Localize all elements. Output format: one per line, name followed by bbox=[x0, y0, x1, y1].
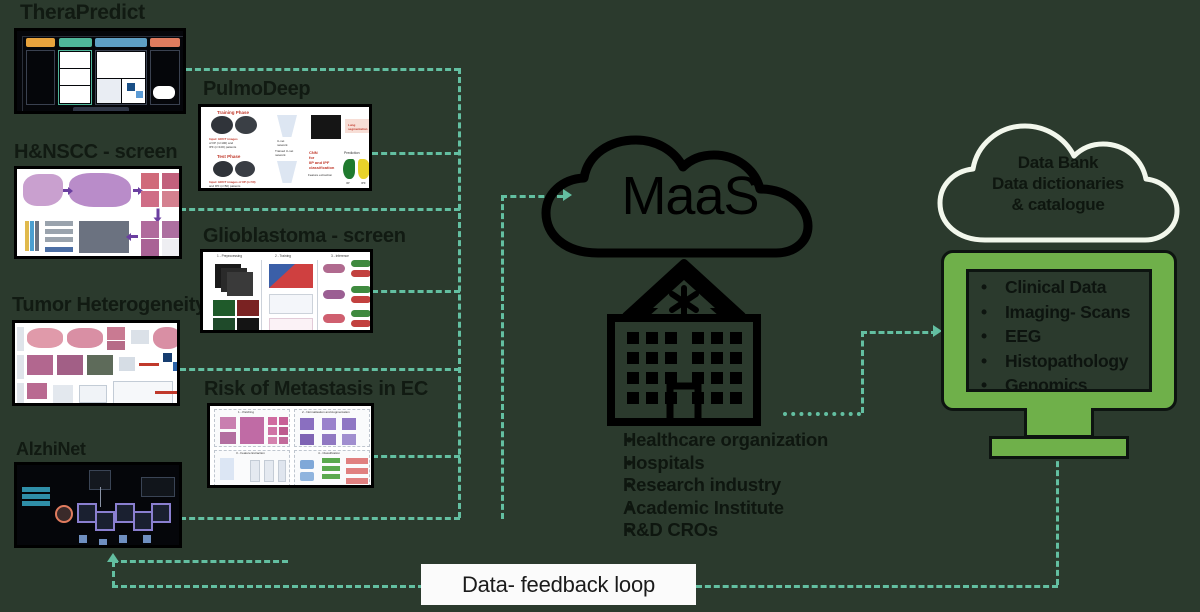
fig-net-layer bbox=[250, 460, 260, 482]
fig-patch bbox=[279, 437, 288, 444]
fig-arrow-down bbox=[157, 209, 160, 219]
fig-patch bbox=[279, 427, 288, 435]
fig-pill-green bbox=[351, 310, 370, 317]
fig-unet-shape-2 bbox=[277, 161, 297, 183]
model-title-hnscc: H&NSCC - screen bbox=[14, 142, 177, 162]
fig-col-1 bbox=[26, 50, 55, 105]
fig-tab-1 bbox=[26, 38, 55, 47]
list-item: Genomics bbox=[975, 373, 1165, 398]
fig-pill-purple bbox=[323, 264, 345, 273]
fig-legend-bar bbox=[22, 487, 50, 492]
fig-hex-node bbox=[115, 503, 135, 523]
feedback-loop-box: Data- feedback loop bbox=[421, 564, 696, 605]
model-title-glioblastoma: Glioblastoma - screen bbox=[203, 226, 406, 246]
fig-label-trained-unet: Trained U-netnetwork bbox=[275, 149, 293, 157]
fig-row-label bbox=[17, 327, 24, 351]
model-panel-pulmodeep[interactable]: Training Phase Input: HRCT images of IIP… bbox=[198, 104, 372, 191]
fig-label-unet: U-netnetwork bbox=[277, 139, 288, 147]
fig-hex-node bbox=[77, 503, 97, 523]
fig-mri-color bbox=[213, 300, 235, 316]
fig-patch bbox=[141, 173, 159, 189]
fig-pipeline bbox=[269, 318, 313, 330]
model-title-therapredict: TheraPredict bbox=[20, 2, 145, 23]
fig-label-step1: 1 - Preprocessing bbox=[217, 254, 242, 258]
model-panel-metastasis[interactable]: 1 - Patching 2 - Normalisation and Augme… bbox=[207, 403, 374, 488]
fig-patch bbox=[268, 417, 277, 425]
fig-label-prediction: Prediction bbox=[344, 151, 360, 155]
fig-box bbox=[131, 330, 149, 344]
model-panel-hnscc[interactable] bbox=[14, 166, 182, 259]
fig-heat bbox=[173, 362, 177, 371]
fig-patch bbox=[268, 437, 277, 444]
fig-divider bbox=[261, 260, 262, 330]
connector-therapredict bbox=[186, 68, 460, 71]
fig-bar bbox=[139, 363, 159, 366]
fig-slide bbox=[240, 417, 264, 444]
fig-ct bbox=[235, 161, 255, 177]
fig-thumb bbox=[97, 79, 121, 103]
fig-pill-green bbox=[351, 286, 370, 293]
fig-label-input-train3: IPF (n=100) patients bbox=[209, 145, 236, 149]
fig-cls-red bbox=[346, 468, 368, 474]
fig-caption-strip bbox=[73, 107, 129, 111]
fig-hex-node bbox=[95, 511, 115, 531]
fig-label-step2: 2 - Normalisation and Augmentation bbox=[302, 410, 350, 414]
bank-line-1: Data Bank bbox=[948, 152, 1168, 173]
fig-layer bbox=[45, 229, 73, 234]
list-item: Imaging- Scans bbox=[975, 300, 1165, 325]
data-bank-cloud-text: Data Bank Data dictionaries & catalogue bbox=[948, 152, 1168, 215]
connector-trunk-vertical bbox=[458, 68, 461, 518]
fig-thumb bbox=[60, 86, 90, 103]
hospital-icon bbox=[597, 258, 772, 428]
fig-hex-node bbox=[151, 503, 171, 523]
fig-layer bbox=[45, 221, 73, 226]
fig-label-cnn: CNNforIIP and IPFclassification bbox=[309, 150, 334, 170]
feedback-return-to-models bbox=[112, 560, 288, 563]
fig-tissue bbox=[153, 327, 177, 349]
fig-patch bbox=[268, 427, 277, 435]
fig-tissue bbox=[27, 383, 47, 399]
list-item: Histopathology bbox=[975, 349, 1165, 374]
connector-trunk-to-maas-riser bbox=[501, 195, 504, 519]
fig-row-label bbox=[17, 355, 24, 379]
fig-cls-green bbox=[322, 458, 340, 463]
model-panel-alzhinet[interactable] bbox=[14, 462, 182, 548]
fig-thumb bbox=[97, 52, 145, 78]
fig-pill-red bbox=[351, 270, 370, 277]
fig-label-lung-seg: Lungsegmentation bbox=[348, 123, 368, 131]
fig-row-label bbox=[17, 383, 24, 403]
fig-box bbox=[79, 385, 107, 403]
fig-lung-green bbox=[343, 159, 355, 179]
fig-label-step3: 3 - Inference bbox=[331, 254, 349, 258]
fig-norm-grid bbox=[342, 418, 356, 430]
fig-cls-box bbox=[300, 472, 314, 481]
fig-hex-node bbox=[133, 511, 153, 531]
fig-cls-red bbox=[346, 478, 368, 484]
fig-layer bbox=[45, 237, 73, 242]
consumer-list: Healthcare organization Hospitals Resear… bbox=[595, 429, 915, 542]
connector-tumor-het bbox=[180, 368, 460, 371]
feedback-loop-label: Data- feedback loop bbox=[462, 572, 655, 598]
fig-3d bbox=[87, 355, 113, 375]
fig-server bbox=[141, 477, 175, 497]
fig-lung-ct bbox=[311, 115, 341, 139]
fig-patch bbox=[141, 239, 159, 256]
fig-label-step2: 2 - Training bbox=[275, 254, 291, 258]
connector-hnscc bbox=[180, 208, 460, 211]
fig-tab-2 bbox=[59, 38, 92, 47]
fig-box bbox=[119, 357, 135, 371]
fig-3d bbox=[27, 355, 53, 375]
model-panel-therapredict[interactable] bbox=[14, 28, 186, 114]
fig-device bbox=[99, 539, 107, 545]
bank-line-2: Data dictionaries bbox=[948, 173, 1168, 194]
list-item: Hospitals bbox=[623, 452, 915, 475]
fig-net-layer bbox=[278, 460, 286, 482]
fig-pill-green bbox=[351, 260, 370, 267]
fig-link bbox=[100, 487, 101, 507]
fig-ct bbox=[211, 116, 233, 134]
fig-label-input-test2: and IPF (n=50) patients bbox=[209, 184, 240, 188]
fig-layer bbox=[45, 247, 73, 252]
fig-label-iip: IIP bbox=[346, 181, 350, 185]
monitor-base bbox=[989, 436, 1129, 459]
fig-pill-pink bbox=[323, 314, 345, 323]
fig-hex-node bbox=[55, 505, 73, 523]
data-bank-item-list: Clinical Data Imaging- Scans EEG Histopa… bbox=[975, 275, 1165, 398]
fig-tab-3 bbox=[95, 38, 147, 47]
connector-glioblastoma bbox=[372, 290, 460, 293]
fig-patch bbox=[162, 191, 179, 207]
fig-patch bbox=[279, 417, 288, 425]
fig-net-bar bbox=[25, 221, 29, 251]
feedback-line-right bbox=[696, 585, 1058, 588]
fig-scatter bbox=[269, 294, 313, 314]
list-item: Clinical Data bbox=[975, 275, 1165, 300]
fig-heat bbox=[163, 353, 172, 362]
fig-label-feature-extraction: Feature extraction bbox=[308, 173, 332, 177]
feedback-riser-right bbox=[1056, 452, 1059, 585]
diagram-canvas: TheraPredict H&NSCC - screen bbox=[0, 0, 1200, 612]
fig-divider bbox=[317, 260, 318, 330]
fig-patch bbox=[162, 173, 179, 189]
fig-cls-box bbox=[300, 460, 314, 469]
fig-arrow bbox=[63, 189, 69, 192]
fig-ct bbox=[235, 116, 257, 134]
connector-metastasis bbox=[372, 455, 460, 458]
fig-unet-shape bbox=[277, 115, 297, 137]
model-title-metastasis: Risk of Metastasis in EC bbox=[204, 379, 428, 399]
fig-tissue bbox=[67, 328, 103, 348]
fig-patch bbox=[162, 239, 179, 256]
fig-thumb bbox=[153, 86, 175, 99]
list-item: EEG bbox=[975, 324, 1165, 349]
fig-arrow bbox=[133, 189, 139, 192]
fig-cnn-box bbox=[79, 221, 129, 253]
fig-thumb bbox=[60, 52, 90, 68]
model-panel-glioblastoma[interactable]: 1 - Preprocessing 2 - Training 3 - Infer… bbox=[200, 249, 373, 333]
fig-net-bar bbox=[35, 221, 39, 251]
fig-label-step4: 4 - Classification bbox=[318, 451, 340, 455]
fig-legend-bar bbox=[22, 501, 50, 506]
fig-pill-red bbox=[351, 320, 370, 327]
fig-device bbox=[79, 535, 87, 543]
maas-label: MaaS bbox=[540, 165, 840, 227]
feedback-line-left bbox=[112, 585, 424, 588]
list-item: Academic Institute bbox=[623, 497, 915, 520]
fig-arrow bbox=[130, 235, 138, 238]
fig-label-step1: 1 - Patching bbox=[238, 410, 254, 414]
fig-tab-4 bbox=[150, 38, 180, 47]
connector-hospital-to-bank-v bbox=[861, 331, 864, 413]
fig-3d bbox=[57, 355, 83, 375]
model-title-alzhinet: AlzhiNet bbox=[16, 440, 86, 458]
fig-thumb bbox=[60, 69, 90, 85]
fig-norm-grid bbox=[342, 434, 356, 445]
feedback-riser-left bbox=[112, 561, 115, 587]
fig-label-ipf: IPF bbox=[361, 181, 366, 185]
fig-box bbox=[53, 385, 73, 403]
fig-net-layer bbox=[264, 460, 274, 482]
fig-norm-grid bbox=[322, 418, 336, 430]
fig-net-bar bbox=[30, 221, 34, 251]
fig-tissue bbox=[107, 341, 125, 350]
fig-slide bbox=[220, 417, 236, 429]
list-item: R&D CROs bbox=[623, 519, 915, 542]
fig-net bbox=[220, 458, 234, 480]
fig-pill-red bbox=[351, 296, 370, 303]
model-title-tumor-het: Tumor Heterogeneity bbox=[12, 295, 206, 315]
fig-legend-bar bbox=[22, 494, 50, 499]
fig-tissue bbox=[69, 173, 131, 207]
fig-norm-grid bbox=[300, 434, 314, 445]
connector-alzhinet bbox=[180, 517, 460, 520]
fig-ct bbox=[213, 161, 233, 177]
fig-cls-green bbox=[322, 466, 340, 471]
fig-heat bbox=[127, 83, 135, 91]
fig-device bbox=[143, 535, 151, 543]
fig-mri-color bbox=[213, 318, 235, 330]
connector-hospital-to-bank-h bbox=[783, 412, 861, 416]
fig-heat bbox=[136, 91, 143, 98]
fig-slide bbox=[220, 432, 236, 444]
monitor-neck bbox=[1024, 408, 1094, 438]
fig-label-step3: 3 - Feature Extraction bbox=[236, 451, 265, 455]
bank-line-3: & catalogue bbox=[948, 194, 1168, 215]
fig-device bbox=[119, 535, 127, 543]
fig-norm-grid bbox=[300, 418, 314, 430]
fig-tissue bbox=[107, 327, 125, 340]
list-item: Healthcare organization bbox=[623, 429, 915, 452]
list-item: Research industry bbox=[623, 474, 915, 497]
fig-label-training-phase: Training Phase bbox=[217, 110, 249, 115]
fig-patch bbox=[141, 191, 159, 207]
fig-mri-color bbox=[237, 300, 259, 316]
connector-pulmodeep bbox=[372, 152, 460, 155]
fig-cls-green bbox=[322, 474, 340, 479]
model-title-pulmodeep: PulmoDeep bbox=[203, 79, 310, 99]
fig-norm-grid bbox=[322, 434, 336, 445]
fig-pill-purple bbox=[323, 290, 345, 299]
fig-tissue bbox=[23, 174, 63, 206]
fig-lung-yellow bbox=[358, 159, 369, 179]
fig-cls-red bbox=[346, 458, 368, 464]
fig-bar bbox=[155, 391, 177, 394]
fig-mri-color bbox=[237, 318, 259, 330]
fig-tissue bbox=[27, 328, 63, 348]
fig-patch bbox=[162, 221, 179, 238]
fig-mri-stack bbox=[227, 272, 253, 296]
model-panel-tumor-het[interactable] bbox=[12, 320, 180, 406]
fig-label-test-phase: Test Phase bbox=[217, 154, 240, 159]
connector-bank-inflow bbox=[861, 331, 937, 334]
fig-patch bbox=[141, 221, 159, 238]
